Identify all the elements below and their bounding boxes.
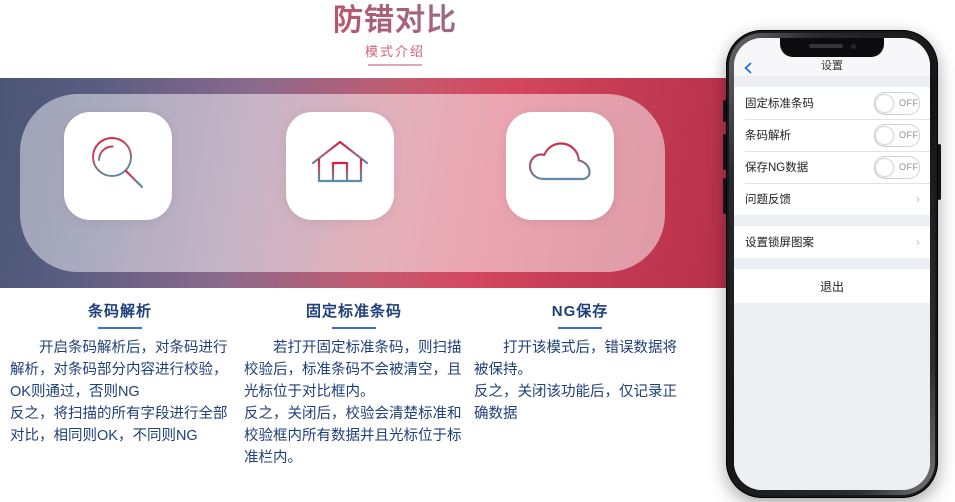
title-divider [368,64,422,66]
settings-row-fixed-standard-barcode[interactable]: 固定标准条码 OFF [734,87,930,119]
feature-divider [332,327,376,329]
group-spacer [734,76,930,87]
row-label: 保存NG数据 [745,159,874,175]
screen-empty-area [734,303,930,490]
feature-column-fixed-standard-barcode: 固定标准条码 若打开固定标准条码，则扫描校验后，标准条码不会被清空，且光标位于对… [238,300,470,469]
toggle-state-label: OFF [899,98,919,108]
feature-divider [98,327,142,329]
row-label: 问题反馈 [745,191,916,207]
front-camera-icon [851,44,856,49]
settings-row-feedback[interactable]: 问题反馈 › [734,183,930,215]
feature-body: 打开该模式后，错误数据将被保持。 反之，关闭该功能后，仅记录正确数据 [464,337,696,425]
volume-down-button[interactable] [723,178,726,214]
feature-body: 开启条码解析后，对条码进行解析，对条码部分内容进行校验，OK则通过，否则NG 反… [4,337,236,447]
phone-mockup: 设置 固定标准条码 OFF 条码解析 OFF 保存NG数据 [714,22,950,502]
feature-title: 条码解析 [4,300,236,321]
feature-divider [558,327,602,329]
feature-title: NG保存 [464,300,696,321]
icon-tile-ng-save[interactable] [506,112,614,220]
feature-banner [0,78,740,288]
page-title: 防错对比 [0,4,790,37]
icon-tile-barcode-parse[interactable] [64,112,172,220]
logout-button[interactable]: 退出 [734,269,930,303]
chevron-left-icon[interactable] [742,61,754,73]
notch [780,38,884,57]
feature-column-barcode-parse: 条码解析 开启条码解析后，对条码进行解析，对条码部分内容进行校验，OK则通过，否… [4,300,236,447]
phone-screen: 设置 固定标准条码 OFF 条码解析 OFF 保存NG数据 [734,38,930,490]
home-icon [305,129,375,204]
toggle-state-label: OFF [899,162,919,172]
feature-title: 固定标准条码 [238,300,470,321]
speaker-grille-icon [809,44,843,48]
title-block: 防错对比 模式介绍 [0,4,790,66]
magnifier-icon [83,129,153,204]
group-spacer [734,258,930,269]
cloud-icon [524,129,596,204]
toggle-knob [875,126,894,145]
row-label: 设置锁屏图案 [745,234,916,250]
settings-row-lock-pattern[interactable]: 设置锁屏图案 › [734,226,930,258]
toggle-knob [875,94,894,113]
power-button[interactable] [938,144,941,200]
toggle-save-ng-data[interactable]: OFF [874,156,920,179]
volume-up-button[interactable] [723,134,726,170]
row-label: 条码解析 [745,127,874,143]
settings-row-barcode-parse[interactable]: 条码解析 OFF [734,119,930,151]
toggle-state-label: OFF [899,130,919,140]
row-label: 固定标准条码 [745,95,874,111]
chevron-right-icon: › [916,236,920,248]
toggle-fixed-standard-barcode[interactable]: OFF [874,92,920,115]
feature-column-ng-save: NG保存 打开该模式后，错误数据将被保持。 反之，关闭该功能后，仅记录正确数据 [464,300,696,425]
nav-title: 设置 [821,57,843,73]
settings-list: 固定标准条码 OFF 条码解析 OFF 保存NG数据 OFF [734,76,930,490]
silent-switch[interactable] [723,100,726,122]
toggle-knob [875,158,894,177]
feature-body: 若打开固定标准条码，则扫描校验后，标准条码不会被清空，且光标位于对比框内。 反之… [238,337,470,469]
icon-tile-fixed-standard-barcode[interactable] [286,112,394,220]
settings-row-save-ng-data[interactable]: 保存NG数据 OFF [734,151,930,183]
page-subtitle: 模式介绍 [0,41,790,60]
chevron-right-icon: › [916,193,920,205]
group-spacer [734,215,930,226]
toggle-barcode-parse[interactable]: OFF [874,124,920,147]
